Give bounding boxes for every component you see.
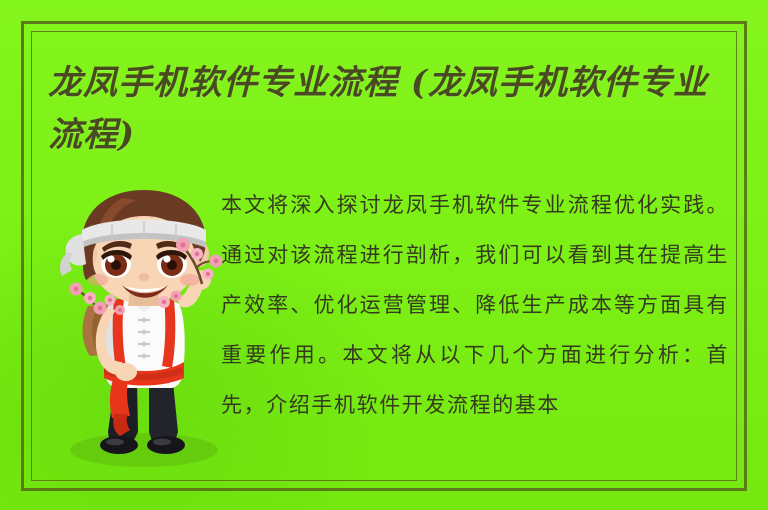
frog-button-3 [142, 342, 147, 347]
right-eye-glint [163, 255, 170, 262]
page-title: 龙凤手机软件专业流程 (龙凤手机软件专业流程) [48, 57, 728, 161]
left-shoe-highlight [106, 439, 124, 446]
article-body: 本文将深入探讨龙凤手机软件专业流程优化实践。通过对该流程进行剖析，我们可以看到其… [221, 180, 729, 490]
article-paragraph: 本文将深入探讨龙凤手机软件专业流程优化实践。通过对该流程进行剖析，我们可以看到其… [221, 180, 729, 430]
ground-shadow-shape [70, 433, 218, 467]
left-blush-shape [88, 274, 108, 286]
poster-canvas: 龙凤手机软件专业流程 (龙凤手机软件专业流程) 本文将深入探讨龙凤手机软件专业流… [0, 0, 768, 510]
right-shoe-highlight [153, 439, 171, 446]
frog-button-2 [142, 330, 147, 335]
chibi-mascot-illustration [52, 186, 234, 486]
frog-button-4 [142, 354, 147, 359]
frog-button-1 [142, 318, 147, 323]
left-eye-glint [107, 255, 114, 262]
left-hand-shape [115, 363, 137, 381]
nose-shape [139, 273, 149, 281]
headband-tail-shape [60, 252, 73, 276]
right-leg-shape [149, 382, 178, 444]
right-blush-shape [180, 274, 200, 286]
